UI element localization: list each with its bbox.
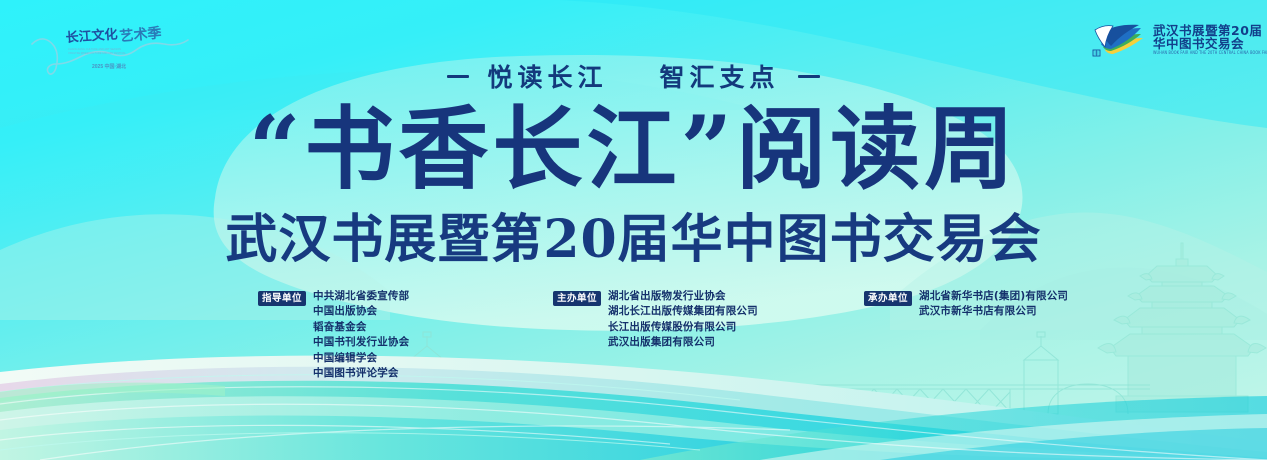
svg-text:艺术季: 艺术季 xyxy=(119,24,162,45)
credits-section: 指导单位 中共湖北省委宣传部 中国出版协会 韬奋基金会 中国书刊发行业协会 中国… xyxy=(0,290,1267,380)
tagline: 悦读长江 智汇支点 xyxy=(0,58,1267,94)
org-list-organizer: 湖北省出版物发行业协会 湖北长江出版传媒集团有限公司 长江出版传媒股份有限公司 … xyxy=(608,290,758,350)
tagline-dash-right xyxy=(798,75,820,78)
open-book-icon xyxy=(1091,20,1147,60)
list-item: 中国书刊发行业协会 xyxy=(313,336,409,349)
svg-text:长江文化: 长江文化 xyxy=(65,26,118,46)
org-list-guidance: 中共湖北省委宣传部 中国出版协会 韬奋基金会 中国书刊发行业协会 中国编辑学会 … xyxy=(313,290,409,381)
list-item: 武汉市新华书店有限公司 xyxy=(919,305,1068,318)
list-item: 中国图书评论学会 xyxy=(313,367,409,380)
logo-right-line2: 华中图书交易会 xyxy=(1153,37,1267,50)
credit-column-guidance: 指导单位 中共湖北省委宣传部 中国出版协会 韬奋基金会 中国书刊发行业协会 中国… xyxy=(258,290,409,381)
tagline-left-text: 悦读长江 xyxy=(487,58,607,94)
list-item: 韬奋基金会 xyxy=(313,321,409,334)
list-item: 中国编辑学会 xyxy=(313,352,409,365)
page-title: “书香长江”阅读周 xyxy=(0,104,1267,194)
badge-organizer: 主办单位 xyxy=(553,291,601,306)
list-item: 湖北长江出版传媒集团有限公司 xyxy=(608,305,758,318)
page-subtitle: 武汉书展暨第20届华中图书交易会 xyxy=(0,214,1267,266)
list-item: 湖北省新华书店(集团)有限公司 xyxy=(919,290,1068,303)
list-item: 中国出版协会 xyxy=(313,305,409,318)
list-item: 中共湖北省委宣传部 xyxy=(313,290,409,303)
badge-undertaker: 承办单位 xyxy=(864,291,912,306)
credit-column-undertaker: 承办单位 湖北省新华书店(集团)有限公司 武汉市新华书店有限公司 xyxy=(864,290,1068,319)
badge-guidance: 指导单位 xyxy=(258,291,306,306)
list-item: 湖北省出版物发行业协会 xyxy=(608,290,758,303)
list-item: 长江出版传媒股份有限公司 xyxy=(608,321,758,334)
svg-text:YANGTZE RIVER CULTURE AND ART: YANGTZE RIVER CULTURE AND ART FESTIVAL xyxy=(68,51,127,55)
svg-text:CHANGJIANG CULTURE AND ART SEA: CHANGJIANG CULTURE AND ART SEASON xyxy=(68,47,121,51)
banner-poster: 长江文化 艺术季 CHANGJIANG CULTURE AND ART SEAS… xyxy=(0,0,1267,460)
credit-column-organizer: 主办单位 湖北省出版物发行业协会 湖北长江出版传媒集团有限公司 长江出版传媒股份… xyxy=(553,290,758,350)
list-item: 武汉出版集团有限公司 xyxy=(608,336,758,349)
tagline-dash-left xyxy=(447,75,469,78)
logo-right-line3: WUHAN BOOK FAIR AND THE 20TH CENTRAL CHI… xyxy=(1153,52,1267,56)
tagline-right-text: 智汇支点 xyxy=(660,58,780,94)
org-list-undertaker: 湖北省新华书店(集团)有限公司 武汉市新华书店有限公司 xyxy=(919,290,1068,319)
